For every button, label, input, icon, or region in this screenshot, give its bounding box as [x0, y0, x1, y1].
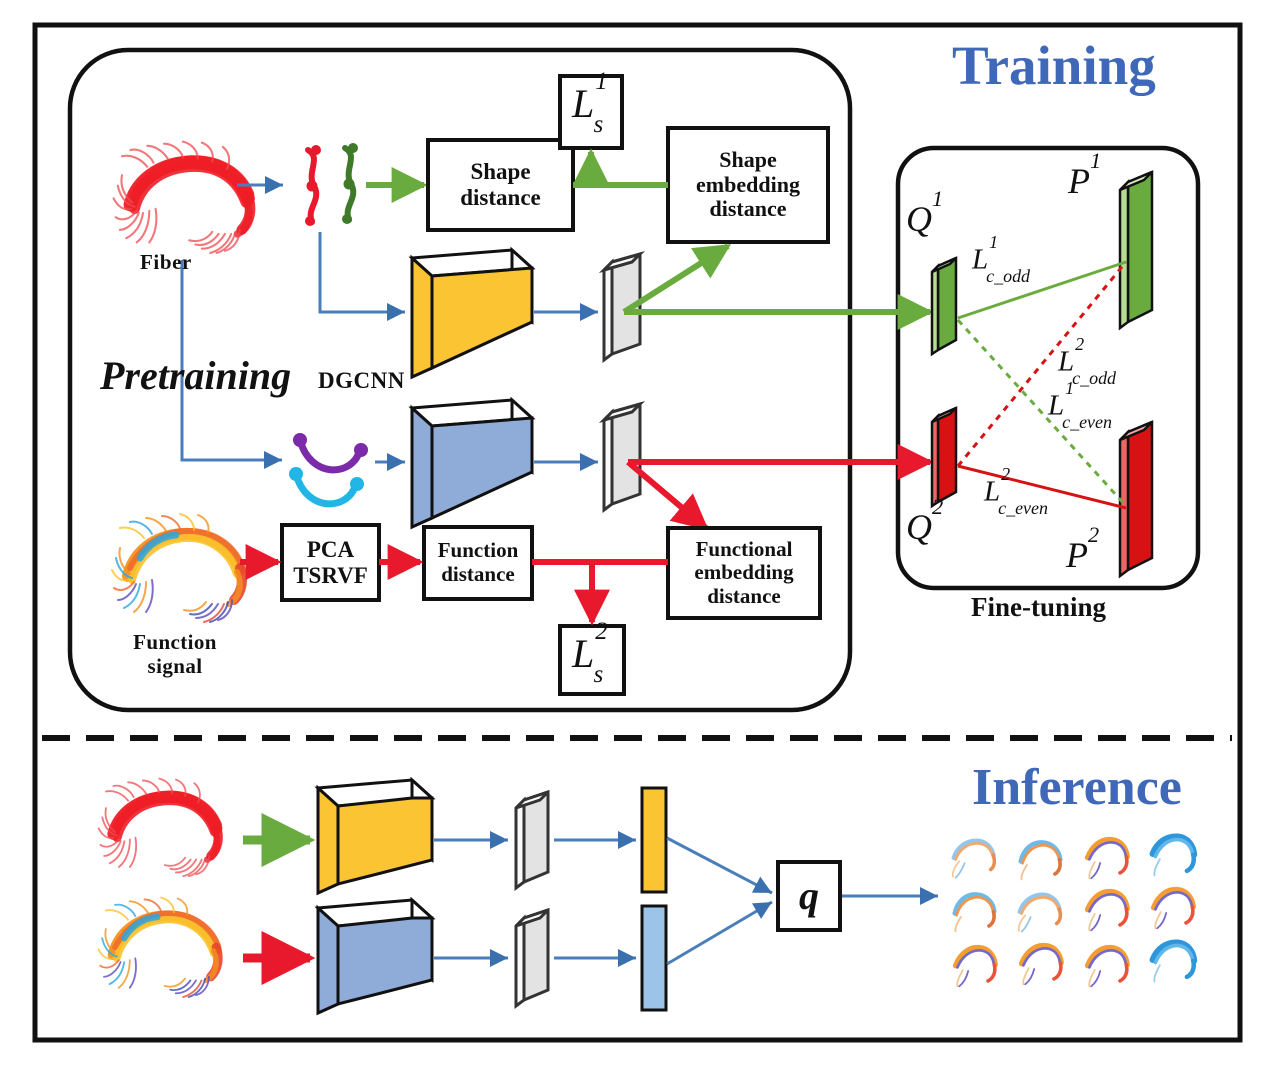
pca-line1: PCA: [307, 537, 354, 563]
shape-embedding-distance-label: Shape embedding distance: [668, 128, 828, 242]
loss-L2-c-even-label: L2c_even: [984, 474, 1059, 512]
loss-L1-c-odd-label: L1c_odd: [972, 242, 1041, 280]
functional-embedding-line3: distance: [707, 585, 781, 609]
function-curves-icon: [289, 433, 368, 504]
node-Q2-label: Q2: [906, 506, 943, 548]
finetuning-caption: Fine-tuning: [971, 592, 1106, 623]
functional-embedding-distance-label: Functional embedding distance: [668, 528, 820, 618]
shape-distance-line1: Shape: [470, 159, 530, 185]
function-distance-line1: Function: [438, 539, 519, 563]
fiber-caption: Fiber: [140, 250, 192, 275]
function-distance-line2: distance: [441, 563, 515, 587]
inference-function-feature-bar: [642, 906, 666, 1010]
inference-title: Inference: [972, 758, 1182, 817]
pca-line2: TSRVF: [293, 563, 368, 589]
figure-canvas: Training Inference Pretraining DGCNN Fib…: [0, 0, 1280, 1088]
function-encoder: [412, 400, 532, 527]
functional-embedding-line2: embedding: [694, 561, 793, 585]
node-P1-slab: [1120, 172, 1152, 328]
loss-ls1-label: L1s: [572, 80, 616, 133]
loss-ls2-label: L2s: [572, 630, 616, 683]
inference-function-encoder: [318, 900, 432, 1013]
shape-embedding-line2: embedding: [696, 173, 800, 198]
outer-frame: [35, 25, 1240, 1040]
shape-distance-line2: distance: [460, 185, 541, 211]
function-feature-slab: [604, 404, 640, 510]
function-signal-caption: Function signal: [110, 628, 240, 682]
shape-distance-label: Shape distance: [428, 140, 573, 230]
function-distance-label: Function distance: [424, 527, 532, 599]
node-Q2-slab: [932, 408, 956, 506]
loss-L2-c-odd-label: L2c_odd: [1058, 344, 1127, 382]
pca-tsrvf-label: PCA TSRVF: [282, 525, 379, 600]
inference-function-illustration: [98, 898, 218, 997]
fusion-q-label: q: [778, 862, 840, 930]
function-signal-caption-line1: Function: [133, 631, 217, 655]
function-signal-caption-line2: signal: [148, 655, 203, 679]
node-P2-label: P2: [1066, 534, 1099, 576]
functional-embedding-line1: Functional: [696, 538, 793, 562]
dgcnn-label: DGCNN: [318, 368, 405, 394]
shape-embedding-line1: Shape: [719, 148, 776, 173]
inference-output-grid: [953, 837, 1194, 987]
inference-arrow-bar1-to-q: [667, 838, 772, 893]
fiber-input-illustration: [114, 142, 251, 253]
inference-function-slab: [516, 910, 548, 1006]
training-title: Training: [952, 34, 1156, 97]
shape-encoder-dgcnn: [412, 250, 532, 377]
shape-embedding-line3: distance: [710, 197, 787, 222]
loss-L1-c-even-label: L1c_even: [1048, 388, 1123, 426]
node-Q1-slab: [932, 258, 956, 354]
streamline-pair-icon: [305, 143, 358, 226]
function-signal-illustration: [112, 514, 242, 622]
node-P2-slab: [1120, 422, 1152, 576]
inference-shape-feature-bar: [642, 788, 666, 892]
pretraining-label: Pretraining: [100, 352, 291, 399]
inference-shape-encoder: [318, 780, 432, 893]
branch-streamlines-to-dgcnn: [320, 232, 405, 312]
node-Q1-label: Q1: [906, 198, 943, 240]
node-P1-label: P1: [1068, 160, 1101, 202]
inference-arrow-bar2-to-q: [667, 902, 772, 964]
inference-shape-slab: [516, 792, 548, 888]
inference-fiber-illustration: [99, 779, 219, 877]
